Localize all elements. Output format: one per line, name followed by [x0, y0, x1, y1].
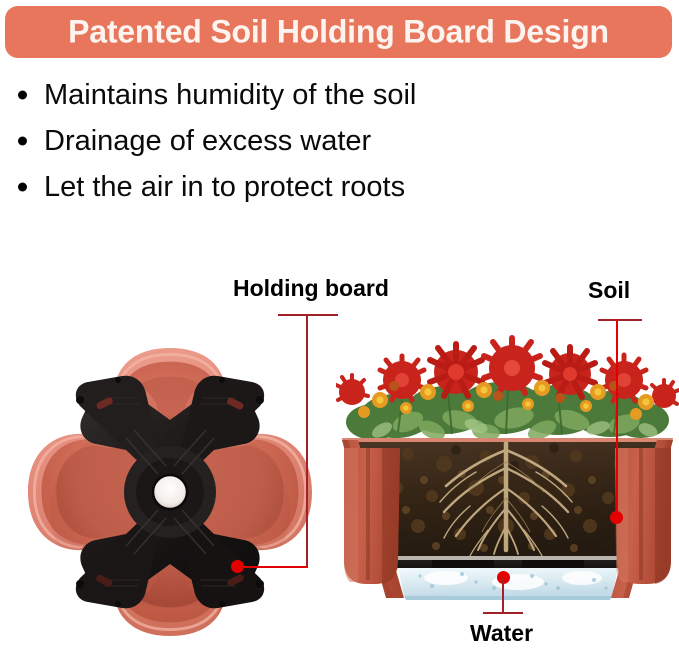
- feature-text: Let the air in to protect roots: [44, 171, 405, 203]
- bullet-icon: [18, 91, 27, 100]
- leader-stem-holding-board: [306, 314, 308, 568]
- marker-dot-holding-board: [231, 560, 244, 573]
- feature-list: Maintains humidity of the soil Drainage …: [14, 72, 614, 210]
- leader-cap-holding-board: [278, 314, 338, 316]
- list-item: Let the air in to protect roots: [14, 164, 614, 210]
- soil-layer: [354, 436, 661, 558]
- leader-cap-soil: [598, 319, 642, 321]
- header-banner: Patented Soil Holding Board Design: [5, 6, 672, 58]
- clover-planter-top-view: [18, 342, 322, 642]
- list-item: Maintains humidity of the soil: [14, 72, 614, 118]
- callout-label-holding-board: Holding board: [233, 275, 389, 302]
- bullet-icon: [18, 137, 27, 146]
- leader-run-holding-board: [240, 566, 308, 568]
- callout-label-water: Water: [470, 620, 533, 647]
- list-item: Drainage of excess water: [14, 118, 614, 164]
- callout-label-soil: Soil: [588, 277, 630, 304]
- marker-dot-soil: [610, 511, 623, 524]
- leader-stem-water: [502, 578, 504, 614]
- leader-cap-water: [483, 612, 523, 614]
- bullet-icon: [18, 183, 27, 192]
- feature-text: Drainage of excess water: [44, 125, 371, 157]
- leader-stem-soil: [616, 319, 618, 519]
- feature-text: Maintains humidity of the soil: [44, 79, 416, 111]
- page-title: Patented Soil Holding Board Design: [5, 14, 672, 51]
- flower-cluster: [336, 338, 679, 443]
- holding-board-layer: [394, 556, 622, 568]
